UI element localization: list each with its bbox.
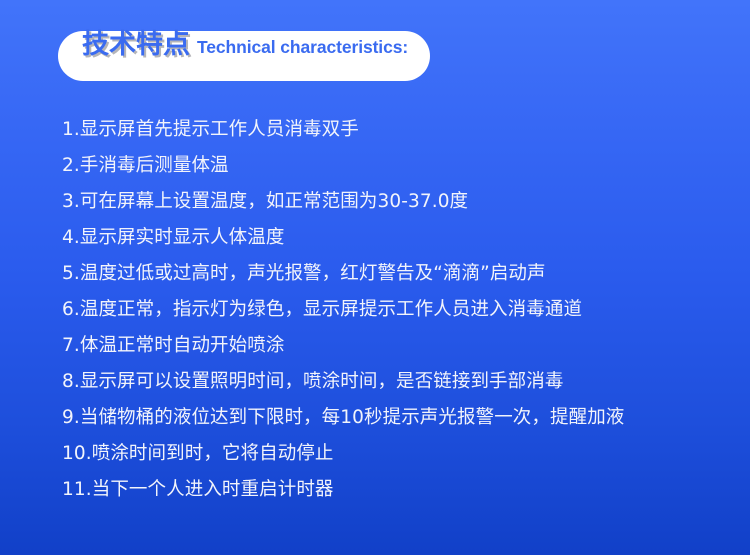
feature-list: 1.显示屏首先提示工作人员消毒双手 2.手消毒后测量体温 3.可在屏幕上设置温度… (62, 112, 730, 508)
list-item: 4.显示屏实时显示人体温度 (62, 220, 730, 256)
list-item: 8.显示屏可以设置照明时间，喷涂时间，是否链接到手部消毒 (62, 364, 730, 400)
list-item: 9.当储物桶的液位达到下限时，每10秒提示声光报警一次，提醒加液 (62, 400, 730, 436)
list-item: 10.喷涂时间到时，它将自动停止 (62, 436, 730, 472)
list-item: 2.手消毒后测量体温 (62, 148, 730, 184)
list-item: 7.体温正常时自动开始喷涂 (62, 328, 730, 364)
list-item: 6.温度正常，指示灯为绿色，显示屏提示工作人员进入消毒通道 (62, 292, 730, 328)
feature-panel: 技术特点 Technical characteristics: 1.显示屏首先提… (0, 0, 750, 555)
list-item: 3.可在屏幕上设置温度，如正常范围为30-37.0度 (62, 184, 730, 220)
header-title-pill: 技术特点 Technical characteristics: (58, 31, 430, 81)
list-item: 1.显示屏首先提示工作人员消毒双手 (62, 112, 730, 148)
list-item: 11.当下一个人进入时重启计时器 (62, 472, 730, 508)
page-title-en: Technical characteristics: (197, 39, 408, 57)
list-item: 5.温度过低或过高时，声光报警，红灯警告及“滴滴”启动声 (62, 256, 730, 292)
page-title-cn: 技术特点 (82, 31, 190, 58)
